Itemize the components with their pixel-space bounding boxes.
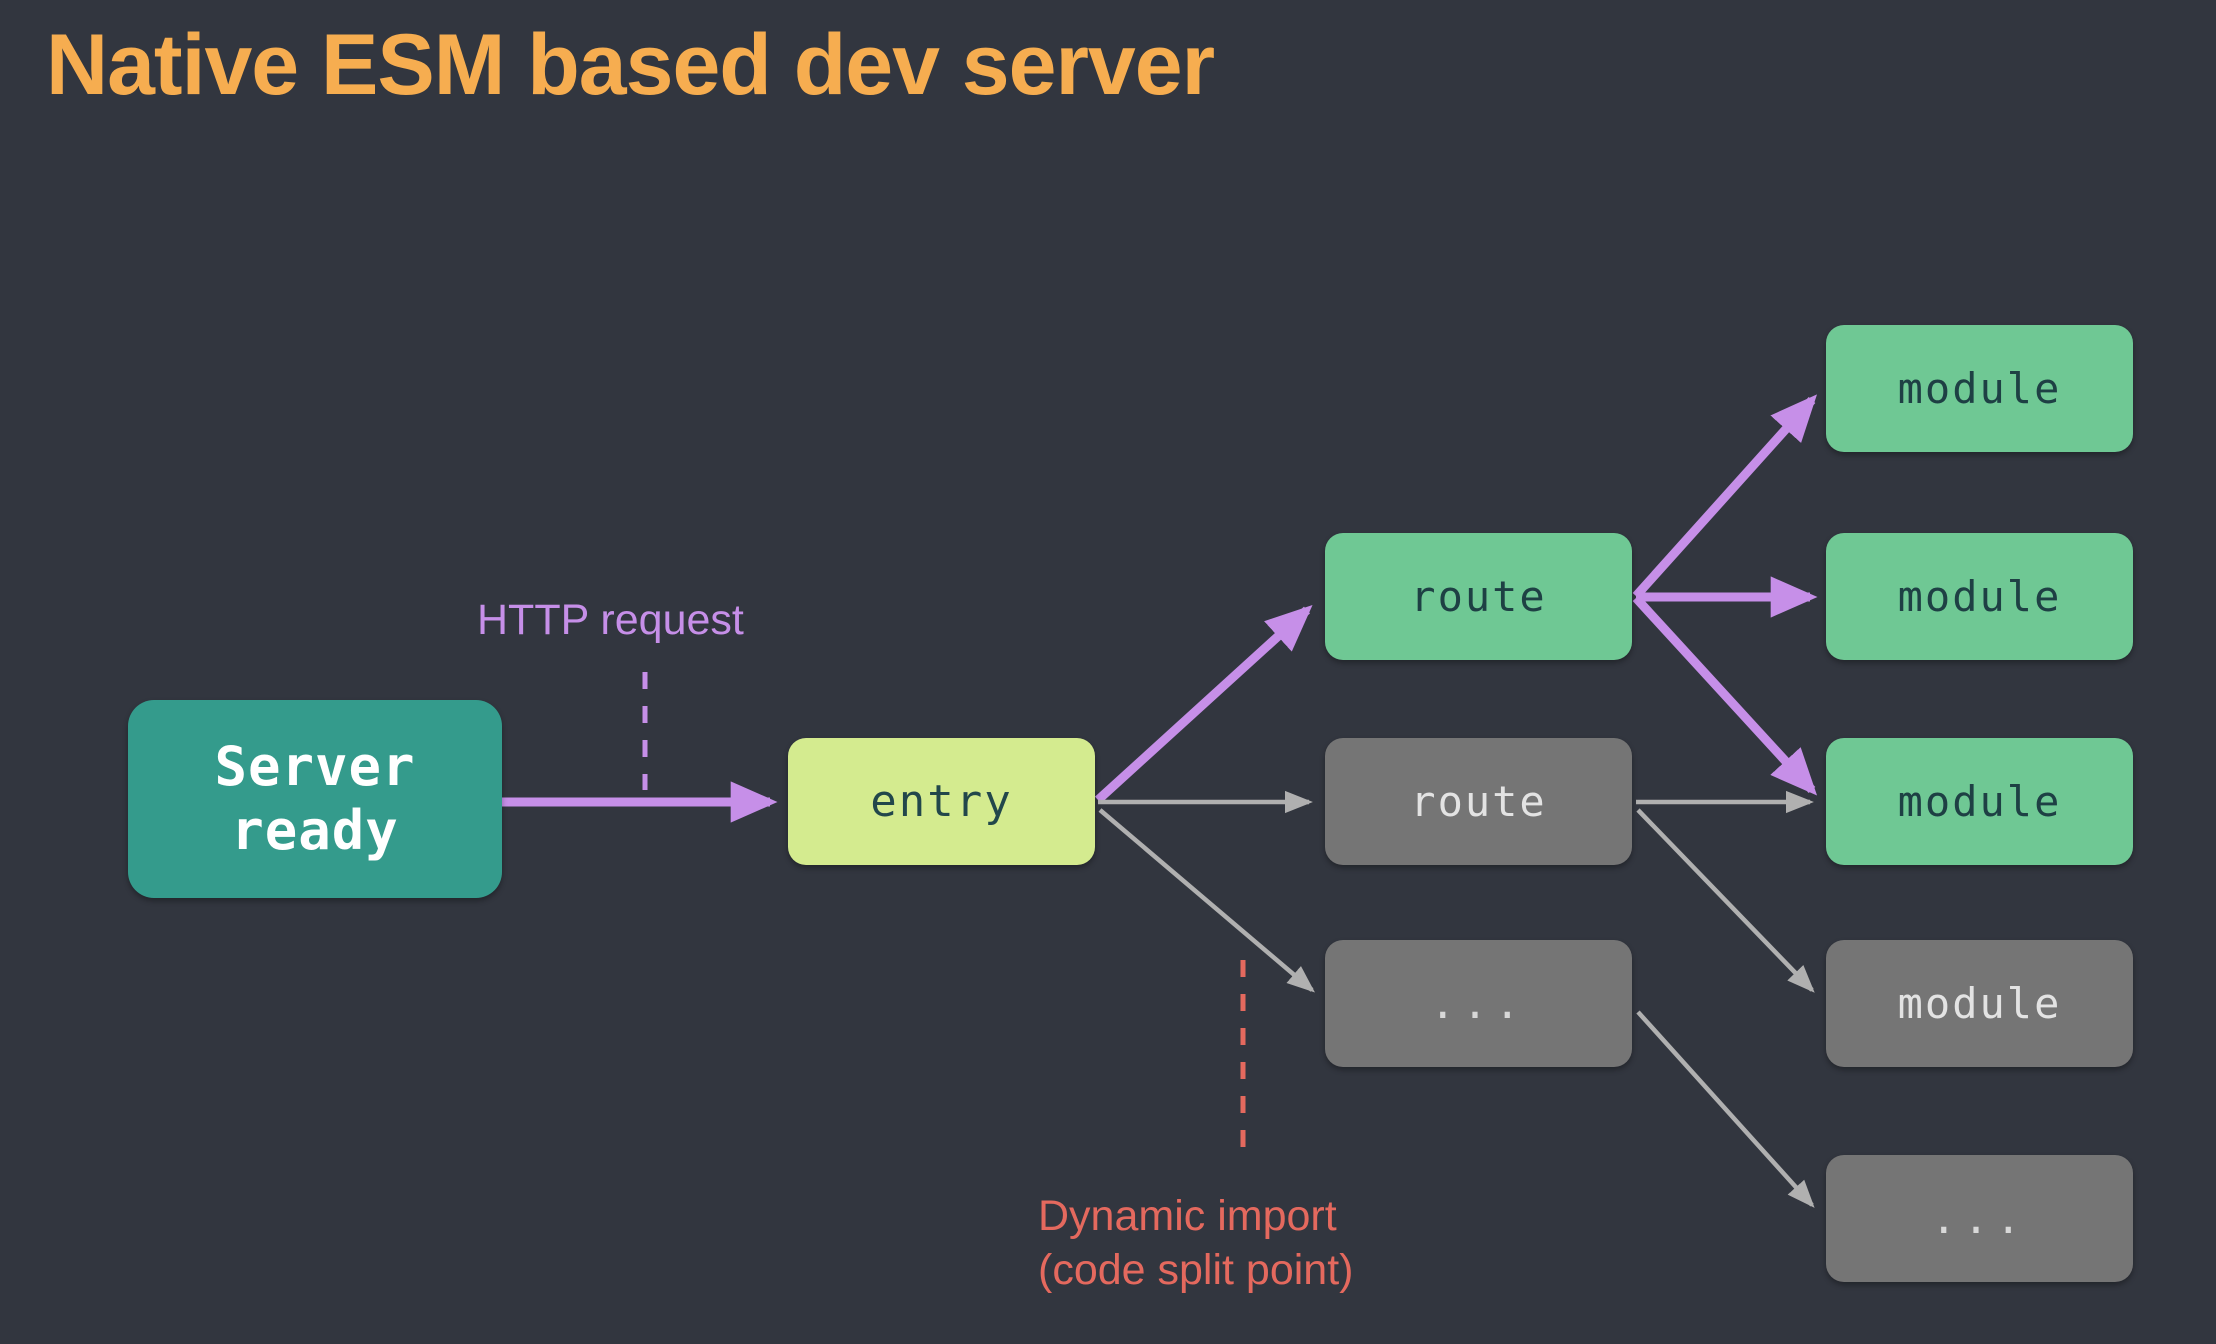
edge-route-1-to-module-1 — [1636, 400, 1812, 596]
diagram-connectors — [0, 0, 2216, 1344]
node-module-4-label: module — [1898, 979, 2062, 1029]
node-module-1-label: module — [1898, 364, 2062, 414]
node-route-1[interactable]: route — [1325, 533, 1632, 660]
node-ellipsis-1[interactable]: ... — [1325, 940, 1632, 1067]
node-route-1-label: route — [1410, 572, 1546, 622]
node-module-1[interactable]: module — [1826, 325, 2133, 452]
edge-entry-to-route-1 — [1098, 610, 1307, 800]
node-route-2-label: route — [1410, 777, 1546, 827]
node-ellipsis-1-label: ... — [1430, 979, 1527, 1029]
node-server-ready[interactable]: Server ready — [128, 700, 502, 898]
edge-route-1-to-module-3 — [1636, 598, 1812, 790]
edge-dots-1-to-dots-2 — [1638, 1012, 1812, 1205]
slide-canvas: Native ESM based dev server — [0, 0, 2216, 1344]
annotation-dynamic-import: Dynamic import (code split point) — [1038, 1190, 1354, 1298]
node-entry-label: entry — [870, 776, 1012, 828]
node-ellipsis-2[interactable]: ... — [1826, 1155, 2133, 1282]
node-module-4[interactable]: module — [1826, 940, 2133, 1067]
node-module-2-label: module — [1898, 572, 2062, 622]
annotation-http-request: HTTP request — [477, 594, 744, 648]
node-ellipsis-2-label: ... — [1931, 1194, 2028, 1244]
edge-entry-to-dots-1 — [1100, 810, 1312, 990]
node-route-2[interactable]: route — [1325, 738, 1632, 865]
node-module-3[interactable]: module — [1826, 738, 2133, 865]
node-entry[interactable]: entry — [788, 738, 1095, 865]
node-module-2[interactable]: module — [1826, 533, 2133, 660]
edge-route-2-to-module-4 — [1638, 810, 1812, 990]
node-server-ready-label: Server ready — [214, 735, 415, 862]
node-module-3-label: module — [1898, 777, 2062, 827]
